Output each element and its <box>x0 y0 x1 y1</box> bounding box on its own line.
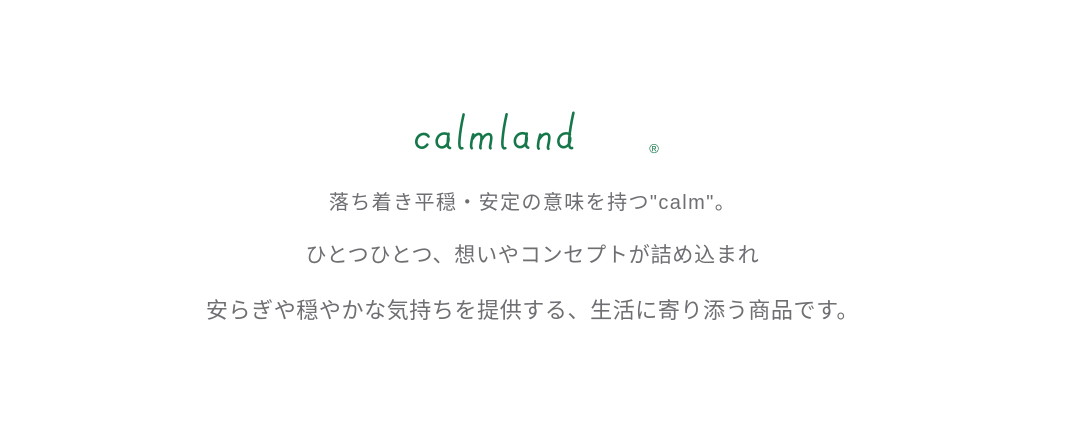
brand-logo: ® <box>406 104 659 160</box>
registered-trademark-symbol: ® <box>649 142 659 155</box>
tagline-line-2: ひとつひとつ、想いやコンセプトが詰め込まれ <box>305 240 759 272</box>
brand-statement-section: ® 落ち着き平穏・安定の意味を持つ"calm"。 ひとつひとつ、想いやコンセプト… <box>0 0 1065 423</box>
tagline-line-3: 安らぎや穏やかな気持ちを提供する、生活に寄り添う商品です。 <box>206 294 859 327</box>
tagline-line-1: 落ち着き平穏・安定の意味を持つ"calm"。 <box>329 188 736 218</box>
calmland-wordmark-icon <box>406 108 646 160</box>
